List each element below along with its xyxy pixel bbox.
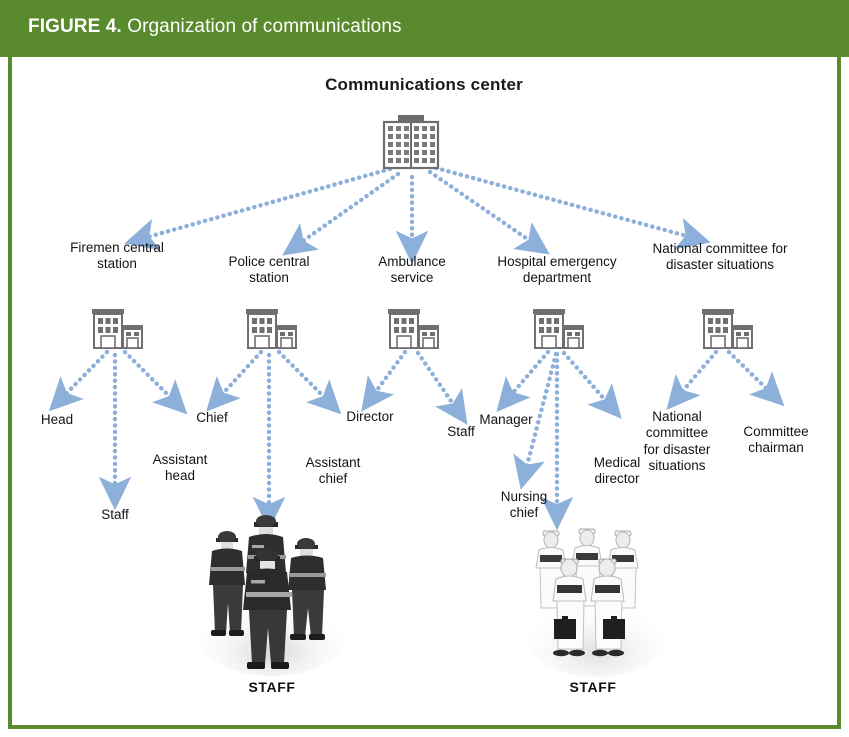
- station-building-icon-national-committee: [698, 305, 756, 358]
- node-label-assistant-head: Assistant head: [134, 452, 226, 485]
- label-line: committee: [629, 425, 725, 441]
- label-line: disaster situations: [610, 257, 830, 273]
- node-label-police-central-station: Police central station: [184, 254, 354, 287]
- connector-root-hospital: [430, 172, 539, 247]
- label-line: Firemen central: [32, 240, 202, 256]
- station-building-icon-firemen: [88, 305, 146, 358]
- connector-committee-chairman: [729, 352, 775, 397]
- figure-header-title: FIGURE 4. Organization of communications: [28, 16, 402, 38]
- node-label-head: Head: [18, 412, 96, 428]
- label-line: chief: [287, 471, 379, 487]
- label-line: National committee for: [610, 241, 830, 257]
- police-staff-caption: STAFF: [207, 679, 337, 695]
- figure-container: FIGURE 4. Organization of communications: [0, 0, 849, 737]
- station-building-icon-police: [242, 305, 300, 358]
- label-line: station: [184, 270, 354, 286]
- medical-staff-caption: STAFF: [528, 679, 658, 695]
- label-line: Police central: [184, 254, 354, 270]
- connector-hospital-meddir: [564, 353, 613, 409]
- node-label-director: Director: [325, 409, 415, 425]
- medical-staff-photo: [517, 515, 677, 685]
- figure-header-band: FIGURE 4. Organization of communications: [0, 0, 849, 57]
- station-building-icon-ambulance: [384, 305, 442, 358]
- node-label-firemen-staff: Staff: [76, 507, 154, 523]
- label-line: situations: [629, 458, 725, 474]
- figure-caption-text: Organization of communications: [122, 16, 402, 37]
- node-label-manager: Manager: [460, 412, 552, 428]
- connector-root-committee: [436, 168, 698, 239]
- connector-hospital-manager: [505, 352, 548, 402]
- connector-ambulance-staff: [418, 353, 460, 414]
- connector-firemen-asthead: [125, 352, 178, 405]
- node-label-committee-chairman: Committee chairman: [727, 424, 825, 457]
- node-label-firemen-central-station: Firemen central station: [32, 240, 202, 273]
- office-tower-icon: [380, 113, 442, 176]
- label-line: Committee: [727, 424, 825, 440]
- connector-police-astchief: [279, 352, 332, 405]
- connector-police-chief: [215, 352, 261, 402]
- node-label-chief: Chief: [170, 410, 254, 426]
- figure-number-label: FIGURE 4.: [28, 16, 122, 37]
- label-line: National: [629, 409, 725, 425]
- connector-committee-natcom: [675, 352, 716, 400]
- label-line: head: [134, 468, 226, 484]
- connector-root-police: [293, 174, 398, 248]
- diagram-title: Communications center: [224, 75, 624, 95]
- figure-body-panel: Communications center: [8, 57, 841, 729]
- connector-firemen-head: [58, 352, 107, 402]
- node-label-national-committee-for-disaster-situations: National committee for disaster situatio…: [629, 409, 725, 475]
- label-line: for disaster: [629, 442, 725, 458]
- label-line: chairman: [727, 440, 825, 456]
- label-line: Assistant: [134, 452, 226, 468]
- connector-root-firemen: [137, 169, 390, 240]
- station-building-icon-hospital: [529, 305, 587, 358]
- label-line: Nursing: [478, 489, 570, 505]
- label-line: station: [32, 256, 202, 272]
- police-staff-photo: [192, 512, 352, 682]
- label-line: Assistant: [287, 455, 379, 471]
- connector-ambulance-director: [369, 352, 405, 401]
- node-label-assistant-chief: Assistant chief: [287, 455, 379, 488]
- diagram-canvas: Communications center: [12, 57, 837, 725]
- node-label-national-committee-disaster: National committee for disaster situatio…: [610, 241, 830, 274]
